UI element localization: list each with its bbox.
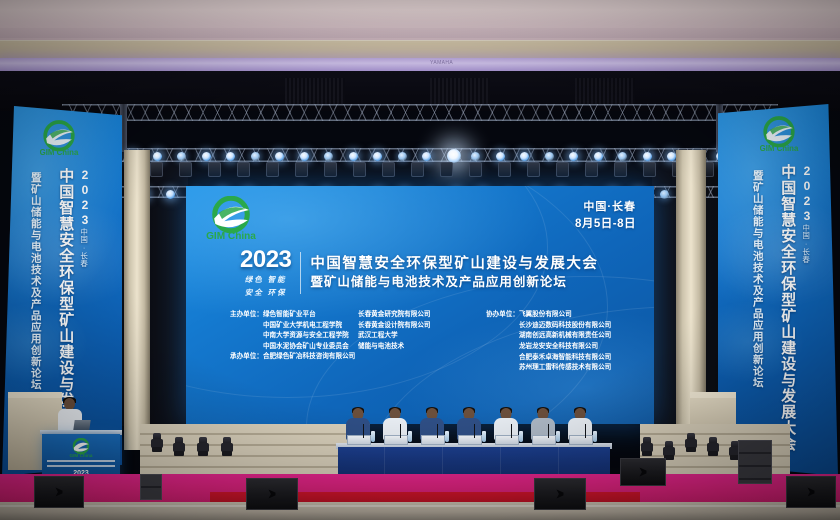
svg-text:GIM China: GIM China (40, 148, 79, 157)
par-light (447, 149, 461, 163)
svg-text:GIM China: GIM China (760, 144, 799, 153)
ceiling-strip-text: YAMAHA (430, 60, 453, 66)
banner-left-year: 2023 (78, 168, 92, 228)
par-light (569, 152, 578, 161)
par-light (153, 152, 162, 161)
table-microphone (400, 424, 401, 438)
truss-light-fixture (527, 162, 540, 177)
gim-swoosh-logo: GIM China (36, 120, 82, 158)
truss-light-fixture (585, 162, 598, 177)
ceiling-vent-grill (575, 78, 635, 104)
water-bottle (519, 431, 523, 442)
table-microphone (548, 424, 549, 438)
par-light (166, 190, 175, 199)
par-light (226, 152, 235, 161)
place-name-card (458, 435, 482, 445)
banner-right-location: 中国·长春 (802, 224, 810, 263)
truss-light-fixture (324, 162, 337, 177)
table-microphone (511, 424, 512, 438)
podium-title-line-2 (47, 465, 115, 467)
screen-year: 2023 (240, 248, 291, 272)
table-microphone (437, 424, 438, 438)
par-light (251, 152, 260, 161)
moving-head-light (150, 432, 164, 452)
led-banner-right: GIM China 2023 中国·长春 中国智慧安全环保型矿山建设与发展大会 … (718, 104, 838, 476)
par-light (422, 152, 431, 161)
truss-light-fixture (382, 162, 395, 177)
ceiling-vent-grill (430, 78, 490, 104)
truss-light-fixture (150, 162, 163, 177)
truss-light-fixture (498, 162, 511, 177)
host-list-2: 长春黄金研究院有限公司长春黄金设计院有限公司武汉工程大学储能与电池技术 (358, 310, 431, 374)
moving-head-light (172, 436, 186, 456)
screen-year-block: 2023 绿色 智能 安全 环保 (240, 248, 291, 299)
moving-head-light (640, 436, 654, 456)
ceiling-vent-grill (285, 78, 345, 104)
banner-right-title-main: 中国智慧安全环保型矿山建设与发展大会 (780, 164, 795, 464)
truss-light-fixture (440, 162, 453, 177)
title-divider (300, 252, 301, 294)
cohost-sponsor-item: 合肥泰禾卓海智能科技有限公司 (519, 353, 611, 364)
organizer-label: 承办单位： (230, 352, 263, 363)
cohost-list: 飞翼股份有限公司长沙迪迈数码科技股份有限公司湖南创远高新机械有限责任公司龙岩龙安… (519, 310, 611, 374)
par-light (643, 152, 652, 161)
place-name-card (384, 435, 408, 445)
equipment-rack-case (738, 440, 772, 484)
cohost-sponsor-item: 湖南创远高新机械有限责任公司 (519, 331, 611, 342)
host-sponsor-item: 储能与电池技术 (358, 342, 431, 353)
truss-light-fixture (353, 162, 366, 177)
par-light (177, 152, 186, 161)
stage-pillar-left (124, 150, 150, 450)
ceiling-led-strip (0, 58, 840, 71)
screen-title-sub: 暨矿山储能与电池技术及产品应用创新论坛 (310, 276, 598, 290)
host-label: 主办单位： (230, 310, 263, 374)
conference-stage-photo: YAMAHA GIM China 2023 中国·长春 中国智慧安全环保型矿山建… (0, 0, 840, 520)
stage-monitor-speaker (534, 478, 586, 510)
table-microphone (363, 424, 364, 438)
truss-light-fixture (266, 162, 279, 177)
podium-laptop (73, 420, 90, 430)
equipment-rack-case (140, 474, 162, 500)
truss-light-fixture (208, 162, 221, 177)
host-list-1: 绿色智能矿业平台中国矿业大学机电工程学院中南大学资源与安全工程学院中国水泥协会矿… (263, 310, 349, 374)
cohost-label: 协办单位： (486, 310, 519, 374)
par-light (324, 152, 333, 161)
host-sponsor-item: 长春黄金设计院有限公司 (358, 321, 431, 332)
screen-titles: 中国智慧安全环保型矿山建设与发展大会 暨矿山储能与电池技术及产品应用创新论坛 (310, 257, 598, 290)
par-light (618, 152, 627, 161)
truss-light-fixture (411, 162, 424, 177)
table-microphone (474, 424, 475, 438)
banner-right-year: 2023 (800, 164, 814, 224)
stage-monitor-speaker (786, 476, 836, 508)
host-sponsor-item: 中南大学资源与安全工程学院 (263, 331, 349, 342)
screen-slogan-line1: 绿色 智能 (245, 274, 287, 285)
par-light (471, 152, 480, 161)
cohost-sponsor-item: 苏州理工雷科传感技术有限公司 (519, 363, 611, 374)
lighting-truss-upper (62, 104, 778, 121)
place-name-card (569, 435, 593, 445)
par-light (667, 152, 676, 161)
water-bottle (593, 431, 597, 442)
stage-monitor-speaker (246, 478, 298, 510)
par-light (373, 152, 382, 161)
place-name-card (532, 435, 556, 445)
floor-edge-line (0, 505, 840, 507)
par-light (496, 152, 505, 161)
host-sponsor-item: 武汉工程大学 (358, 331, 431, 342)
cohost-sponsor-column: 协办单位： 飞翼股份有限公司长沙迪迈数码科技股份有限公司湖南创远高新机械有限责任… (486, 310, 611, 374)
host-sponsor-item: 中国矿业大学机电工程学院 (263, 321, 349, 332)
screen-title-main: 中国智慧安全环保型矿山建设与发展大会 (310, 257, 598, 273)
par-light (545, 152, 554, 161)
par-light (520, 152, 529, 161)
truss-light-fixture (237, 162, 250, 177)
organizer-name: 合肥绿色矿冶科技咨询有限公司 (263, 352, 355, 363)
water-bottle (445, 431, 449, 442)
water-bottle (408, 431, 412, 442)
par-light (660, 190, 669, 199)
par-light (349, 152, 358, 161)
water-bottle (482, 431, 486, 442)
par-light (594, 152, 603, 161)
ceiling-band (0, 28, 840, 38)
truss-light-fixture (469, 162, 482, 177)
screen-slogan-line2: 安全 环保 (245, 287, 287, 298)
banner-right-title-sub: 暨矿山储能与电池技术及产品应用创新论坛 (752, 170, 763, 456)
place-name-card (421, 435, 445, 445)
truss-light-fixture (556, 162, 569, 177)
gim-swoosh-logo: GIM China (202, 196, 260, 242)
screen-location: 中国·长春 (575, 200, 636, 216)
organizer-row: 承办单位： 合肥绿色矿冶科技咨询有限公司 (230, 352, 355, 363)
moving-head-light (196, 436, 210, 456)
gim-swoosh-logo: GIM China (756, 116, 802, 154)
cohost-sponsor-item: 飞翼股份有限公司 (519, 310, 611, 321)
par-light (398, 152, 407, 161)
par-light (202, 152, 211, 161)
table-microphone (585, 424, 586, 438)
moving-head-light (220, 436, 234, 456)
truss-light-fixture (614, 162, 627, 177)
moving-head-light (706, 436, 720, 456)
truss-light-fixture (643, 162, 656, 177)
place-name-card (495, 435, 519, 445)
par-light (275, 152, 284, 161)
cohost-sponsor-item: 长沙迪迈数码科技股份有限公司 (519, 321, 611, 332)
svg-text:GIM China: GIM China (206, 231, 256, 242)
water-bottle (371, 431, 375, 442)
podium-title-line-1 (47, 460, 115, 462)
truss-light-fixture (179, 162, 192, 177)
moving-head-light (662, 440, 676, 460)
screen-dates: 8月5日-8日 (575, 216, 636, 233)
screen-venue-block: 中国·长春 8月5日-8日 (575, 200, 636, 233)
svg-text:GIM China: GIM China (70, 453, 93, 458)
truss-light-fixture (295, 162, 308, 177)
stage-monitor-speaker (620, 458, 666, 486)
main-led-screen: GIM China 中国·长春 8月5日-8日 2023 绿色 智能 安全 环保… (186, 186, 654, 424)
host-sponsor-column-1: 主办单位： 绿色智能矿业平台中国矿业大学机电工程学院中南大学资源与安全工程学院中… (230, 310, 358, 374)
banner-left-location: 中国·长春 (80, 228, 88, 267)
water-bottle (556, 431, 560, 442)
host-sponsor-column-2: 长春黄金研究院有限公司长春黄金设计院有限公司武汉工程大学储能与电池技术 (358, 310, 486, 374)
par-light (300, 152, 309, 161)
cohost-sponsor-item: 龙岩龙安安全科技有限公司 (519, 342, 611, 353)
sponsor-block: 主办单位： 绿色智能矿业平台中国矿业大学机电工程学院中南大学资源与安全工程学院中… (230, 310, 638, 374)
place-name-card (347, 435, 371, 445)
host-sponsor-item: 长春黄金研究院有限公司 (358, 310, 431, 321)
moving-head-light (684, 432, 698, 452)
screen-title-row: 2023 绿色 智能 安全 环保 中国智慧安全环保型矿山建设与发展大会 暨矿山储… (240, 248, 598, 299)
gim-swoosh-logo: GIM China (68, 438, 94, 458)
host-sponsor-item: 绿色智能矿业平台 (263, 310, 349, 321)
stage-monitor-speaker (34, 476, 84, 508)
